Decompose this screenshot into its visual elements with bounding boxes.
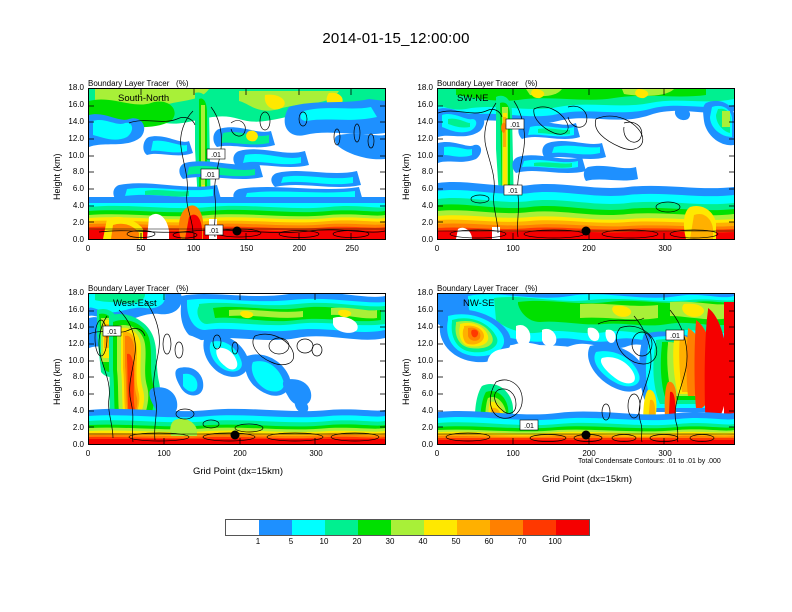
plot-area-nw-se[interactable]: .01 .01 bbox=[437, 293, 735, 445]
plot-area-west-east[interactable]: .01 bbox=[88, 293, 386, 445]
y-tick-label: 18.0 bbox=[403, 288, 433, 297]
colorbar-cell bbox=[523, 520, 556, 535]
direction-label-sw-ne: SW-NE bbox=[457, 93, 489, 104]
svg-text:.01: .01 bbox=[205, 172, 215, 179]
x-tick-label: 100 bbox=[174, 244, 214, 253]
x-tick-label: 300 bbox=[645, 244, 685, 253]
y-tick-label: 10.0 bbox=[54, 151, 84, 160]
x-tick-label: 300 bbox=[645, 449, 685, 458]
x-tick-label: 100 bbox=[493, 449, 533, 458]
x-tick-label: 0 bbox=[417, 244, 457, 253]
y-tick-label: 14.0 bbox=[54, 117, 84, 126]
y-tick-label: 0.0 bbox=[403, 440, 433, 449]
y-tick-label: 18.0 bbox=[54, 83, 84, 92]
y-tick-label: 14.0 bbox=[403, 117, 433, 126]
plot-area-south-north[interactable]: .01 .01 .01 bbox=[88, 88, 386, 240]
y-tick-label: 8.0 bbox=[403, 372, 433, 381]
y-tick-label: 12.0 bbox=[403, 134, 433, 143]
y-tick-label: 16.0 bbox=[403, 305, 433, 314]
x-tick-label: 200 bbox=[569, 244, 609, 253]
center-marker bbox=[233, 227, 242, 236]
y-tick-label: 16.0 bbox=[54, 305, 84, 314]
svg-text:.01: .01 bbox=[209, 228, 219, 235]
y-tick-label: 12.0 bbox=[54, 134, 84, 143]
direction-label-west-east: West-East bbox=[113, 298, 157, 309]
x-axis-label-nw-se: Grid Point (dx=15km) bbox=[487, 474, 687, 485]
contour-caption: Total Condensate Contours: .01 to .01 by… bbox=[578, 458, 721, 465]
contour-label-group: .01 bbox=[103, 326, 121, 336]
x-tick-label: 100 bbox=[144, 449, 184, 458]
x-tick-label: 0 bbox=[68, 244, 108, 253]
svg-text:.01: .01 bbox=[524, 423, 534, 430]
x-tick-label: 250 bbox=[332, 244, 372, 253]
svg-text:.01: .01 bbox=[211, 152, 221, 159]
colorbar-cell bbox=[391, 520, 424, 535]
figure-canvas: 2014-01-15_12:00:00 Boundary Layer Trace… bbox=[0, 0, 792, 612]
colorbar[interactable]: 1510203040506070100 bbox=[225, 519, 590, 536]
colorbar-cell bbox=[424, 520, 457, 535]
svg-text:.01: .01 bbox=[508, 188, 518, 195]
colorbar-cell bbox=[358, 520, 391, 535]
y-tick-label: 16.0 bbox=[54, 100, 84, 109]
x-tick-label: 0 bbox=[417, 449, 457, 458]
y-tick-label: 2.0 bbox=[54, 218, 84, 227]
colorbar-cell bbox=[259, 520, 292, 535]
y-tick-label: 6.0 bbox=[54, 184, 84, 193]
svg-text:.01: .01 bbox=[107, 329, 117, 336]
colorbar-cell bbox=[490, 520, 523, 535]
svg-text:.01: .01 bbox=[670, 333, 680, 340]
direction-label-south-north: South-North bbox=[118, 93, 169, 104]
y-tick-label: 8.0 bbox=[403, 167, 433, 176]
x-tick-label: 200 bbox=[279, 244, 319, 253]
colorbar-cell bbox=[325, 520, 358, 535]
y-tick-label: 16.0 bbox=[403, 100, 433, 109]
y-tick-label: 12.0 bbox=[403, 339, 433, 348]
y-tick-label: 8.0 bbox=[54, 167, 84, 176]
colorbar-cell bbox=[457, 520, 490, 535]
colorbar-cell bbox=[556, 520, 589, 535]
y-tick-label: 14.0 bbox=[54, 322, 84, 331]
y-tick-label: 6.0 bbox=[403, 184, 433, 193]
y-tick-label: 2.0 bbox=[54, 423, 84, 432]
colorbar-cell bbox=[292, 520, 325, 535]
y-tick-label: 4.0 bbox=[403, 201, 433, 210]
plot-area-sw-ne[interactable]: .01 .01 bbox=[437, 88, 735, 240]
y-tick-label: 4.0 bbox=[403, 406, 433, 415]
x-tick-label: 200 bbox=[569, 449, 609, 458]
y-tick-label: 14.0 bbox=[403, 322, 433, 331]
y-tick-label: 0.0 bbox=[403, 235, 433, 244]
x-tick-label: 200 bbox=[220, 449, 260, 458]
x-tick-label: 150 bbox=[227, 244, 267, 253]
direction-label-nw-se: NW-SE bbox=[463, 298, 495, 309]
y-tick-label: 18.0 bbox=[403, 83, 433, 92]
colorbar-cell bbox=[226, 520, 259, 535]
colorbar-tick-label: 100 bbox=[535, 537, 575, 546]
y-tick-label: 4.0 bbox=[54, 406, 84, 415]
y-tick-label: 2.0 bbox=[403, 423, 433, 432]
x-tick-label: 50 bbox=[121, 244, 161, 253]
y-tick-label: 6.0 bbox=[403, 389, 433, 398]
svg-text:.01: .01 bbox=[510, 122, 520, 129]
y-tick-label: 6.0 bbox=[54, 389, 84, 398]
y-tick-label: 10.0 bbox=[54, 356, 84, 365]
y-tick-label: 10.0 bbox=[403, 151, 433, 160]
y-tick-label: 8.0 bbox=[54, 372, 84, 381]
y-tick-label: 18.0 bbox=[54, 288, 84, 297]
colorbar-swatches[interactable] bbox=[225, 519, 590, 536]
y-tick-label: 2.0 bbox=[403, 218, 433, 227]
y-tick-label: 12.0 bbox=[54, 339, 84, 348]
field-nw-se: .01 .01 bbox=[438, 294, 734, 444]
y-tick-label: 4.0 bbox=[54, 201, 84, 210]
field-south-north: .01 .01 .01 bbox=[89, 89, 385, 239]
field-sw-ne: .01 .01 bbox=[438, 89, 734, 239]
x-axis-label-west-east: Grid Point (dx=15km) bbox=[138, 466, 338, 477]
center-marker bbox=[231, 431, 240, 440]
y-tick-label: 0.0 bbox=[54, 235, 84, 244]
page-title: 2014-01-15_12:00:00 bbox=[0, 30, 792, 47]
x-tick-label: 300 bbox=[296, 449, 336, 458]
field-west-east: .01 bbox=[89, 294, 385, 444]
y-tick-label: 10.0 bbox=[403, 356, 433, 365]
x-tick-label: 100 bbox=[493, 244, 533, 253]
y-tick-label: 0.0 bbox=[54, 440, 84, 449]
x-tick-label: 0 bbox=[68, 449, 108, 458]
